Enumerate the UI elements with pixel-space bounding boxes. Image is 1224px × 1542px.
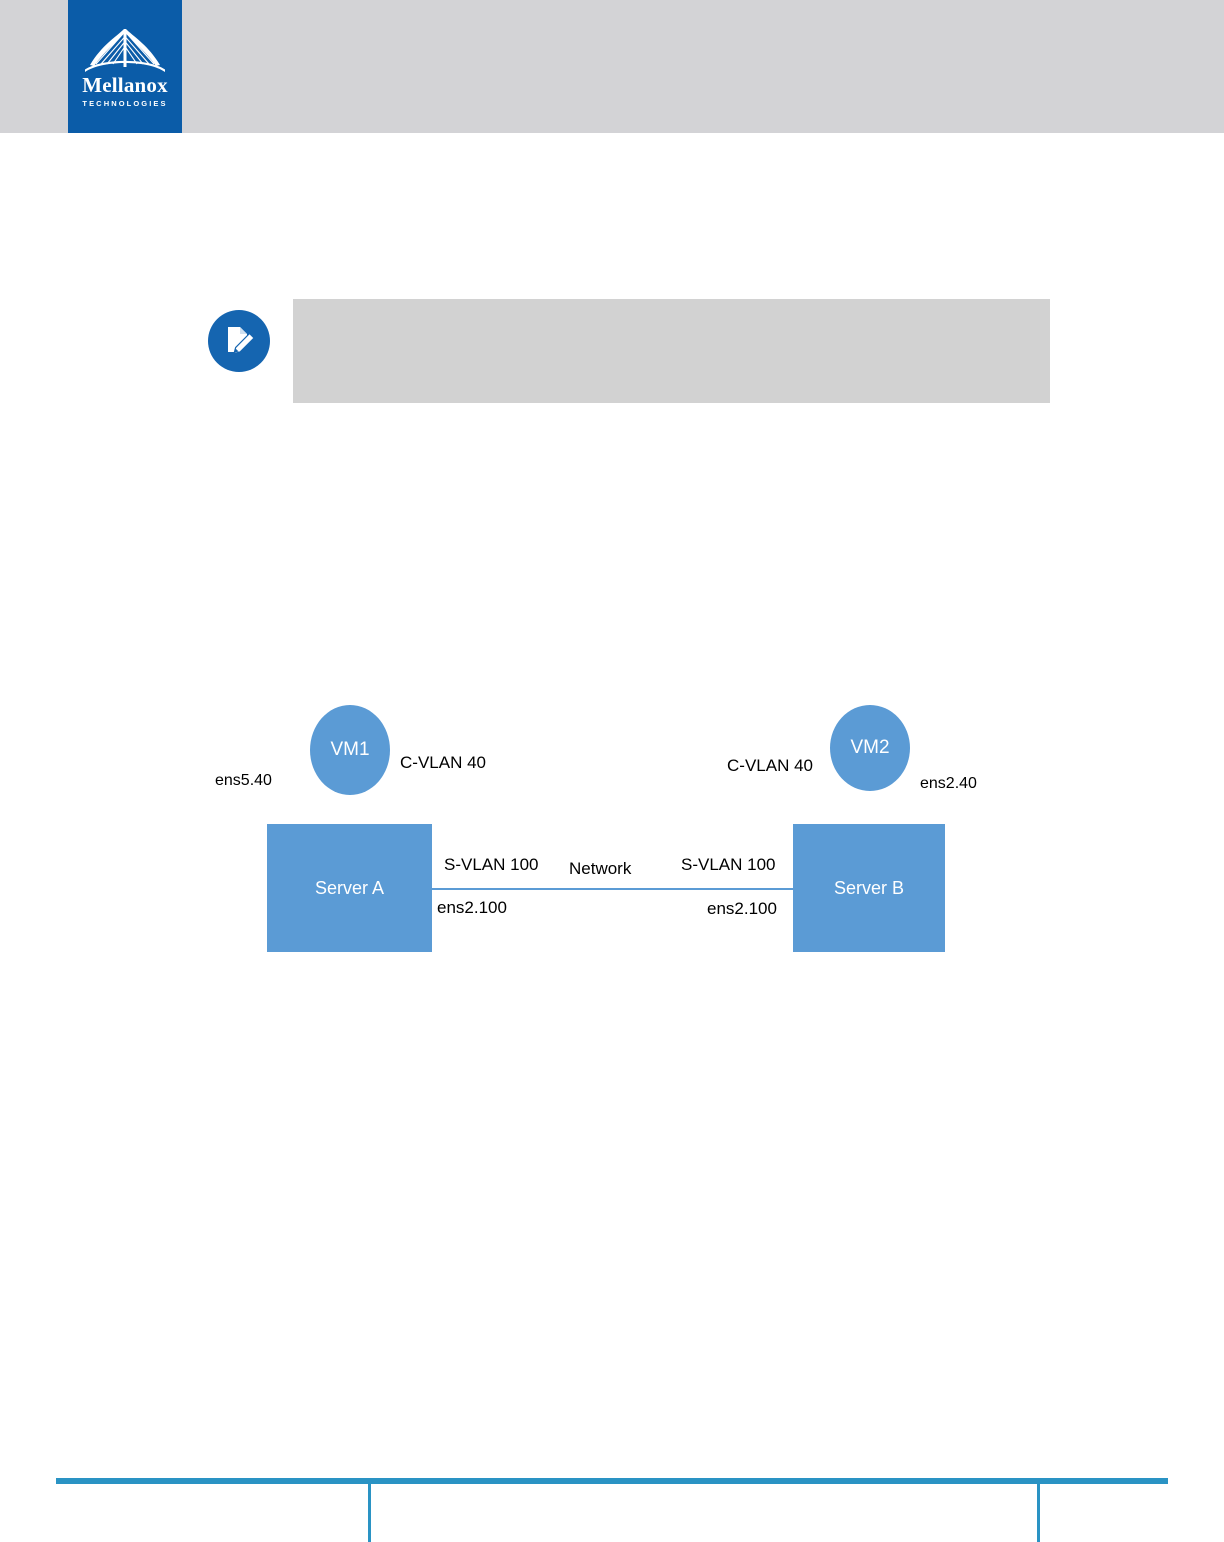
node-vm1[interactable]: VM1 — [310, 705, 390, 795]
node-vm2[interactable]: VM2 — [830, 705, 910, 791]
node-vm1-label: VM1 — [330, 739, 369, 761]
label-network: Network — [569, 859, 631, 879]
label-right-svlan: S-VLAN 100 — [681, 855, 776, 875]
label-left-svlan: S-VLAN 100 — [444, 855, 539, 875]
network-link-line — [430, 888, 793, 890]
header-band: Mellanox TECHNOLOGIES — [0, 0, 1224, 133]
node-vm2-label: VM2 — [850, 737, 889, 759]
network-topology-diagram: VM1 VM2 Server A Server B ens5.40 C-VLAN… — [0, 0, 1224, 1542]
note-callout — [208, 299, 1050, 403]
footer-rule — [56, 1478, 1168, 1484]
note-body-text — [293, 299, 1050, 403]
logo-subtext: TECHNOLOGIES — [82, 100, 167, 108]
mellanox-logo: Mellanox TECHNOLOGIES — [68, 0, 182, 133]
footer-divider-right — [1037, 1484, 1040, 1542]
node-server-b-label: Server B — [834, 878, 904, 899]
node-server-b[interactable]: Server B — [793, 824, 945, 952]
logo-wordmark: Mellanox — [82, 75, 168, 96]
node-server-a-label: Server A — [315, 878, 384, 899]
label-vm1-interface: ens5.40 — [215, 772, 272, 790]
note-document-pencil-icon — [208, 310, 270, 372]
label-vm1-cvlan: C-VLAN 40 — [400, 753, 486, 773]
footer-divider-left — [368, 1484, 371, 1542]
label-right-interface: ens2.100 — [707, 899, 777, 919]
label-vm2-cvlan: C-VLAN 40 — [727, 756, 813, 776]
mellanox-bridge-icon — [82, 25, 168, 73]
label-vm2-interface: ens2.40 — [920, 775, 977, 793]
label-left-interface: ens2.100 — [437, 898, 507, 918]
node-server-a[interactable]: Server A — [267, 824, 432, 952]
